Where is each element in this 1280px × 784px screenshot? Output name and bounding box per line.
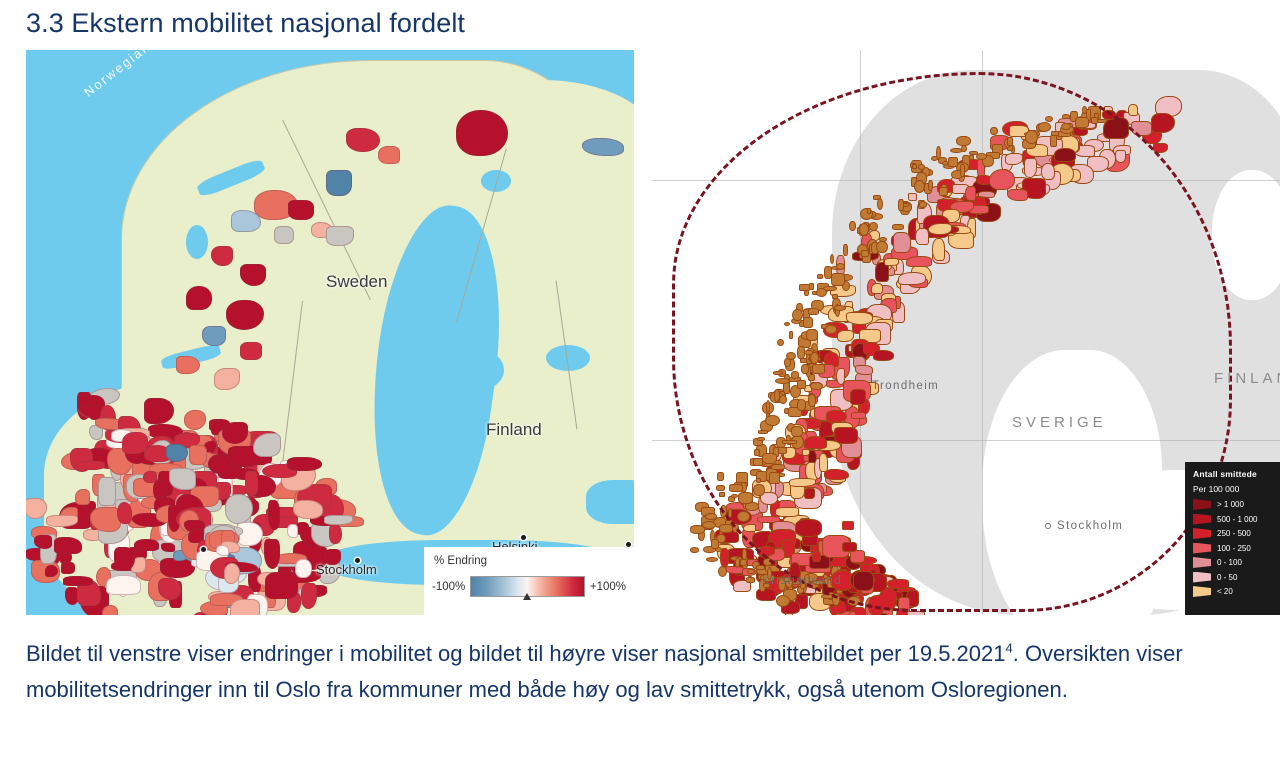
municipality-area: [1128, 104, 1139, 116]
legend-min-label: -100%: [432, 581, 465, 593]
municipality-area: [222, 422, 248, 444]
lake: [186, 225, 208, 259]
municipality-area: [63, 576, 93, 585]
legend-item: 500 - 1 000: [1193, 514, 1272, 525]
national-infection-map[interactable]: SVERIGE FINLAND Trondheim Kristiansand S…: [652, 50, 1280, 615]
legend-item: 100 - 250: [1193, 543, 1272, 554]
coastal-fragment: [746, 577, 754, 583]
municipality-area: [253, 433, 281, 457]
norway-outline-dashed: [672, 72, 1232, 612]
legend-item: < 20: [1193, 586, 1272, 597]
city-label-stockholm: Stockholm: [316, 562, 377, 577]
legend-swatch: [1193, 572, 1211, 583]
municipality-area: [54, 537, 82, 554]
municipality-area: [122, 432, 148, 454]
legend-subtitle: Per 100 000: [1193, 484, 1272, 494]
legend-swatch: [1193, 557, 1211, 568]
legend-label: < 20: [1217, 587, 1233, 596]
legend-swatch: [1193, 543, 1211, 554]
coastal-fragment: [740, 559, 747, 566]
slide-page: 3.3 Ekstern mobilitet nasjonal fordelt N…: [0, 0, 1280, 784]
coastal-fragment: [705, 513, 717, 519]
municipality-area: [231, 210, 261, 232]
municipality-area: [189, 445, 206, 466]
city-label-stockholm: Stockholm: [1057, 520, 1123, 532]
legend-label: 500 - 1 000: [1217, 515, 1257, 524]
legend-label: 250 - 500: [1217, 529, 1251, 538]
municipality-area: [230, 599, 260, 615]
municipality-area: [211, 246, 233, 266]
municipality-area: [34, 535, 52, 548]
municipality-area: [106, 575, 140, 595]
municipality-area: [46, 515, 79, 527]
municipality-area: [186, 286, 212, 310]
municipality-area: [75, 489, 90, 505]
municipality-area: [1151, 113, 1175, 132]
legend-item: 0 - 50: [1193, 572, 1272, 583]
municipality-area: [114, 547, 135, 571]
legend-item: 0 - 100: [1193, 557, 1272, 568]
country-label-finland: Finland: [486, 420, 542, 440]
municipality-area: [264, 539, 280, 569]
municipality-area: [378, 146, 400, 164]
municipality-area: [326, 170, 352, 196]
municipality-area: [98, 477, 116, 506]
coastal-fragment: [711, 539, 719, 549]
legend-item: > 1 000: [1193, 499, 1272, 510]
municipality-area: [117, 502, 132, 524]
municipality-area: [176, 356, 200, 374]
legend-swatch: [1193, 514, 1211, 525]
legend-item: 250 - 500: [1193, 528, 1272, 539]
figure-caption: Bildet til venstre viser endringer i mob…: [26, 636, 1206, 707]
municipality-area: [74, 461, 105, 471]
municipality-area: [293, 500, 323, 518]
legend-title: % Endring: [434, 555, 626, 567]
municipality-area: [582, 138, 624, 156]
municipality-area: [216, 545, 229, 556]
municipality-area: [329, 524, 342, 545]
lake: [586, 480, 634, 524]
legend-max-label: +100%: [590, 581, 626, 593]
legend-mobility: % Endring -100% +100%: [424, 547, 634, 615]
municipality-area: [160, 558, 195, 579]
lake: [456, 350, 504, 390]
municipality-area: [847, 611, 857, 615]
legend-swatch: [1193, 499, 1211, 510]
coastal-fragment: [690, 547, 699, 552]
municipality-area: [326, 226, 354, 246]
figure-row: Norwegian Sea Sweden Finland Stockholm H…: [26, 50, 1280, 615]
municipality-area: [274, 226, 294, 244]
municipality-area: [346, 128, 380, 152]
country-label-finland: FINLAND: [1214, 370, 1280, 387]
municipality-area: [287, 457, 321, 471]
municipality-area: [161, 543, 174, 552]
legend-marker: [523, 593, 531, 600]
legend-infection: Antall smittede Per 100 000 > 1 000500 -…: [1185, 462, 1280, 615]
city-label-kristiansand: Kristiansand: [762, 575, 842, 587]
coastal-fragment: [747, 569, 755, 574]
caption-part1: Bildet til venstre viser endringer i mob…: [26, 641, 1005, 666]
municipality-area: [202, 326, 226, 346]
municipality-area: [90, 507, 121, 532]
municipality-area: [288, 200, 314, 220]
municipality-area: [295, 559, 311, 578]
municipality-area: [134, 539, 159, 552]
legend-items: > 1 000500 - 1 000250 - 500100 - 2500 - …: [1193, 499, 1272, 597]
legend-swatch: [1193, 528, 1211, 539]
coastal-fragment: [690, 525, 705, 533]
legend-label: > 1 000: [1217, 500, 1244, 509]
municipality-area: [240, 264, 266, 286]
coastal-fragment: [735, 557, 740, 568]
legend-gradient-bar: [470, 576, 585, 597]
mobility-change-map[interactable]: Norwegian Sea Sweden Finland Stockholm H…: [26, 50, 634, 615]
municipality-area: [265, 572, 298, 599]
legend-swatch: [1193, 586, 1211, 597]
city-dot-stockholm: [1045, 523, 1051, 529]
municipality-area: [61, 562, 75, 574]
country-label-sverige: SVERIGE: [1012, 414, 1107, 431]
municipality-area: [102, 605, 118, 615]
city-label-trondheim: Trondheim: [872, 380, 939, 392]
city-dot-oslo: [201, 547, 206, 552]
municipality-area: [287, 524, 298, 538]
municipality-area: [245, 471, 258, 495]
legend-label: 0 - 50: [1217, 573, 1237, 582]
municipality-area: [208, 454, 232, 474]
municipality-area: [45, 565, 58, 577]
municipality-area: [169, 468, 196, 489]
coastal-fragment: [756, 565, 765, 570]
caption-footnote-marker: 4: [1005, 641, 1012, 656]
country-label-sweden: Sweden: [326, 272, 387, 292]
legend-title: Antall smittede: [1193, 469, 1272, 479]
legend-label: 0 - 100: [1217, 558, 1242, 567]
municipality-area: [240, 342, 262, 360]
legend-label: 100 - 250: [1217, 544, 1251, 553]
municipality-area: [456, 110, 508, 156]
page-title: 3.3 Ekstern mobilitet nasjonal fordelt: [26, 8, 465, 39]
municipality-area: [268, 500, 280, 529]
